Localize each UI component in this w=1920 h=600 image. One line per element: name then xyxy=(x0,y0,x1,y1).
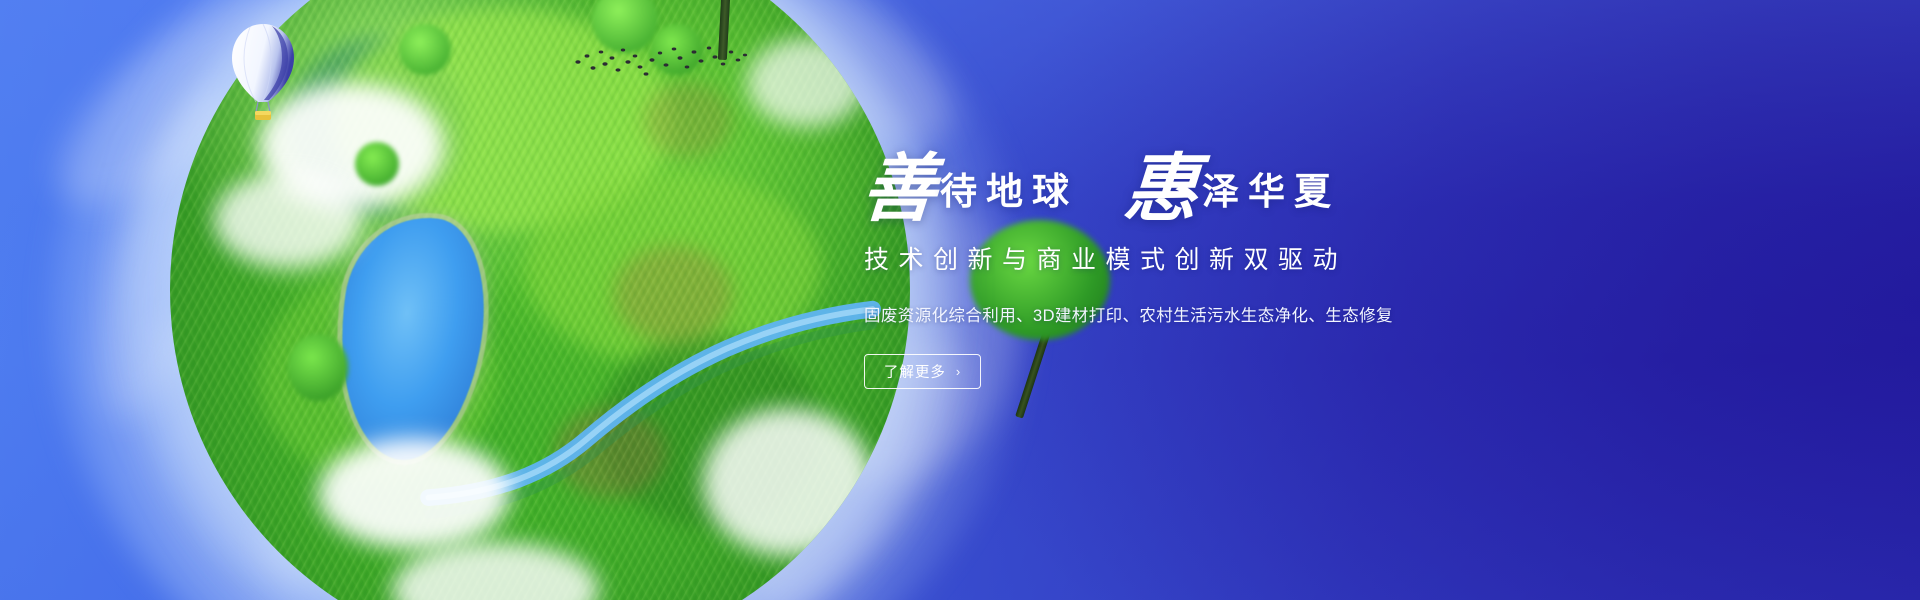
headline-big-char-1: 善 xyxy=(860,155,939,226)
learn-more-button[interactable]: 了解更多 › xyxy=(864,354,981,389)
hero-content: 善 待地球 惠 泽华夏 技术创新与商业模式创新双驱动 固废资源化综合利用、3D建… xyxy=(862,130,1622,389)
subtitle: 技术创新与商业模式创新双驱动 xyxy=(864,240,1622,276)
globe-cloud xyxy=(703,408,873,556)
headline-group-1: 善 待地球 xyxy=(862,155,1078,226)
globe-cloud xyxy=(214,172,362,268)
headline-group-2: 惠 泽华夏 xyxy=(1124,155,1340,226)
headline-big-char-2: 惠 xyxy=(1122,155,1201,226)
globe-tree xyxy=(288,334,347,401)
hot-air-balloon-icon xyxy=(224,22,302,132)
globe-cloud xyxy=(318,438,510,549)
headline-small-text-2: 泽华夏 xyxy=(1202,161,1340,215)
bird-flock-icon xyxy=(570,40,750,100)
hero-banner: 善 待地球 惠 泽华夏 技术创新与商业模式创新双驱动 固废资源化综合利用、3D建… xyxy=(0,0,1920,600)
globe-tree xyxy=(399,24,451,76)
learn-more-label: 了解更多 xyxy=(884,361,946,382)
description: 固废资源化综合利用、3D建材打印、农村生活污水生态净化、生态修复 xyxy=(864,302,1622,326)
chevron-right-icon: › xyxy=(956,364,961,379)
headline-small-text-1: 待地球 xyxy=(940,161,1078,215)
headline: 善 待地球 惠 泽华夏 xyxy=(862,130,1622,226)
